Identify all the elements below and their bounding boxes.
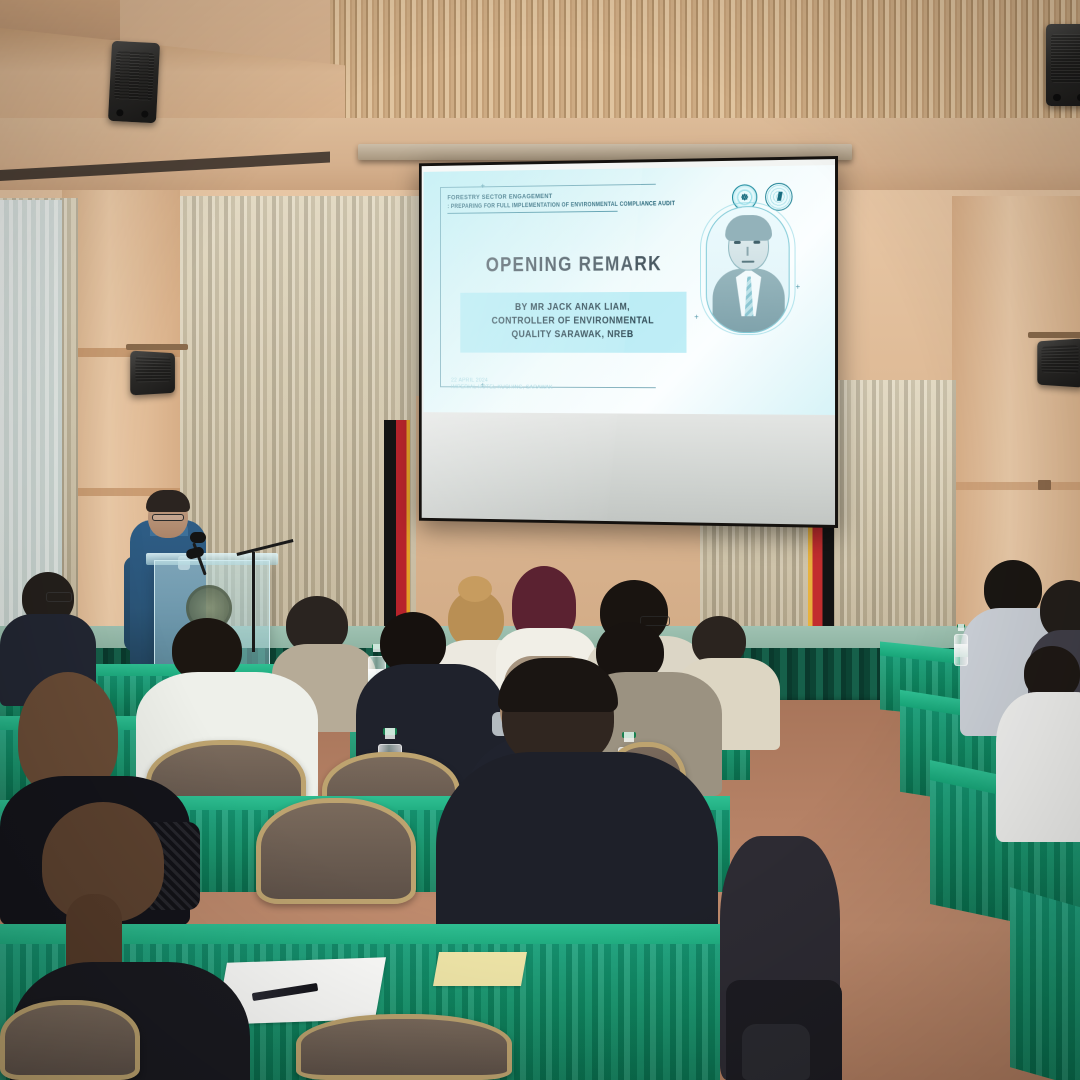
portrait-mouth (742, 261, 755, 263)
projected-slide: + + + + FORESTRY SECTOR ENGAGEMENT : PRE… (424, 165, 835, 415)
portrait-nose (747, 247, 749, 256)
banquet-chair (256, 798, 416, 904)
slide-footer-line-2: IMPERIAL HOTEL KUCHING, SARAWAK (451, 384, 553, 391)
banquet-chair (296, 1014, 512, 1080)
ribbed-wood-ceiling-panel (330, 0, 1080, 122)
banquet-table (1010, 887, 1080, 1080)
yellow-note-pad (433, 952, 527, 986)
wall-socket (1038, 480, 1051, 490)
slide-title: OPENING REMARK (473, 252, 676, 277)
screen-blank-area (422, 412, 835, 525)
slide-subtitle-box: BY MR JACK ANAK LIAM, CONTROLLER OF ENVI… (460, 292, 686, 353)
glasses-icon (46, 592, 72, 602)
speaker-portrait-illustration (706, 206, 790, 333)
speaker-mid-right-icon (1037, 338, 1080, 387)
slide-footer: 22 APRIL 2024 IMPERIAL HOTEL KUCHING, SA… (451, 378, 553, 392)
portrait-eye (734, 241, 741, 244)
slide-corner-bracket (440, 184, 656, 388)
slide-plus-marker: + (694, 313, 699, 321)
microphone-head-icon (190, 532, 206, 543)
speaker-mid-left-icon (130, 351, 175, 396)
slide-header: FORESTRY SECTOR ENGAGEMENT : PREPARING F… (447, 191, 692, 214)
speaker-top-left-icon (108, 41, 160, 123)
water-bottle (954, 624, 968, 666)
microphone-stand-pole (252, 552, 255, 652)
portrait-hair (725, 215, 772, 241)
speaker-bracket (126, 344, 188, 350)
flag-banner-left (384, 420, 410, 642)
slide-plus-marker: + (796, 283, 801, 291)
pillar-trim (952, 482, 1080, 490)
slide-subtitle-line-3: QUALITY SARAWAK, NREB (478, 328, 667, 342)
flag-banner-right (808, 520, 834, 640)
projector-screen: + + + + FORESTRY SECTOR ENGAGEMENT : PRE… (419, 156, 838, 528)
slide-subtitle-line-1: BY MR JACK ANAK LIAM, (478, 301, 667, 315)
portrait-eye (753, 241, 760, 244)
shoe (742, 1024, 810, 1080)
slide-plus-marker: + (481, 182, 485, 190)
conference-hall-photo: + + + + FORESTRY SECTOR ENGAGEMENT : PRE… (0, 0, 1080, 1080)
slide-header-line-2: : PREPARING FOR FULL IMPLEMENTATION OF E… (447, 200, 662, 210)
slide-subtitle-line-2: CONTROLLER OF ENVIRONMENTAL (478, 314, 667, 328)
presenter-glasses-icon (152, 514, 184, 521)
presenter-hair (146, 490, 190, 512)
banquet-chair (0, 1000, 140, 1080)
portrait-frame (706, 206, 790, 333)
speaker-top-right-icon (1046, 24, 1080, 106)
speaker-bracket (1028, 332, 1080, 338)
